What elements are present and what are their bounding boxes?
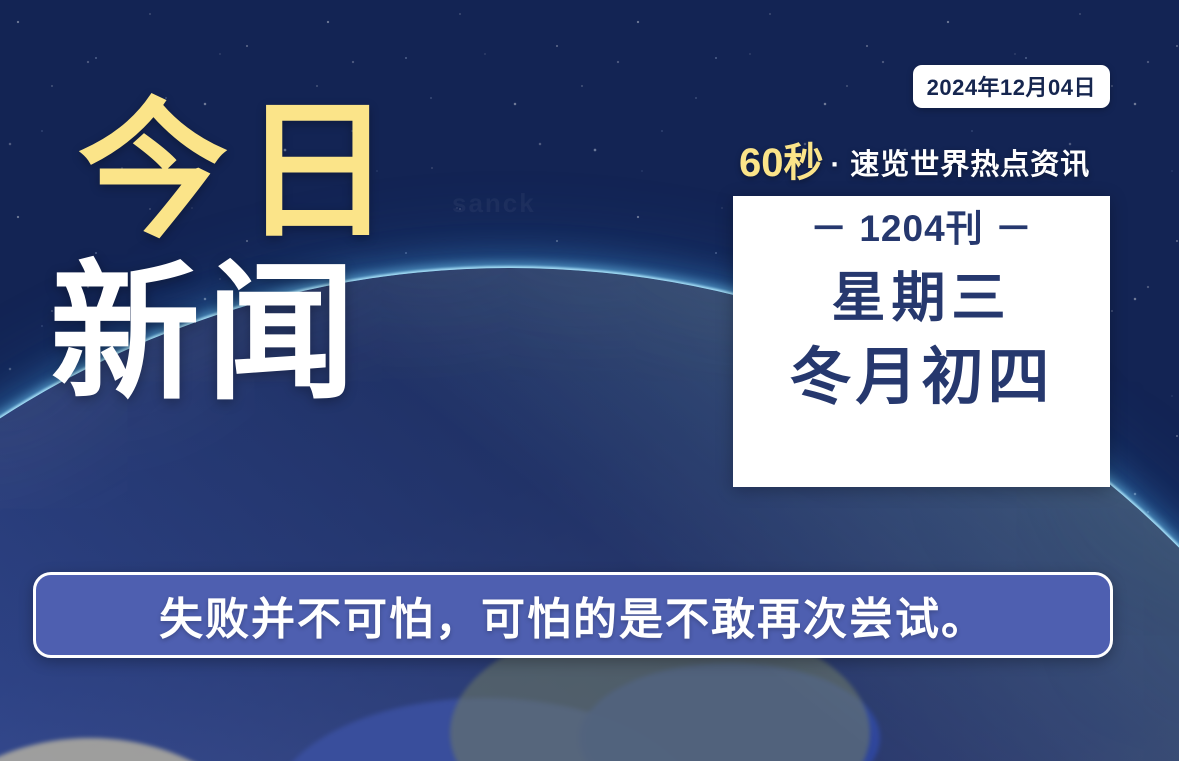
issue-number: － 1204刊 － [810,208,1033,251]
news-poster: sanck 今日 新闻 2024年12月04日 60秒 · 速览世界热点资讯 －… [0,0,1179,761]
poster-content: 今日 新闻 2024年12月04日 60秒 · 速览世界热点资讯 － 1204刊… [0,0,1179,761]
quote-bar: 失败并不可怕，可怕的是不敢再次尝试。 [33,572,1113,658]
date-info-card: － 1204刊 － 星期三 冬月初四 [733,196,1110,487]
tagline: 60秒 · 速览世界热点资讯 [739,143,1090,183]
lunar-date: 冬月初四 [789,344,1053,412]
masthead-line-jinri: 今日 [78,96,406,246]
weekday-label: 星期三 [832,269,1012,328]
masthead-line-xinwen: 新闻 [50,258,406,408]
date-badge: 2024年12月04日 [913,65,1110,108]
tagline-highlight: 60秒 [739,143,824,183]
quote-text: 失败并不可怕，可怕的是不敢再次尝试。 [159,583,987,647]
masthead: 今日 新闻 [78,96,406,408]
tagline-rest: · 速览世界热点资讯 [831,151,1091,180]
